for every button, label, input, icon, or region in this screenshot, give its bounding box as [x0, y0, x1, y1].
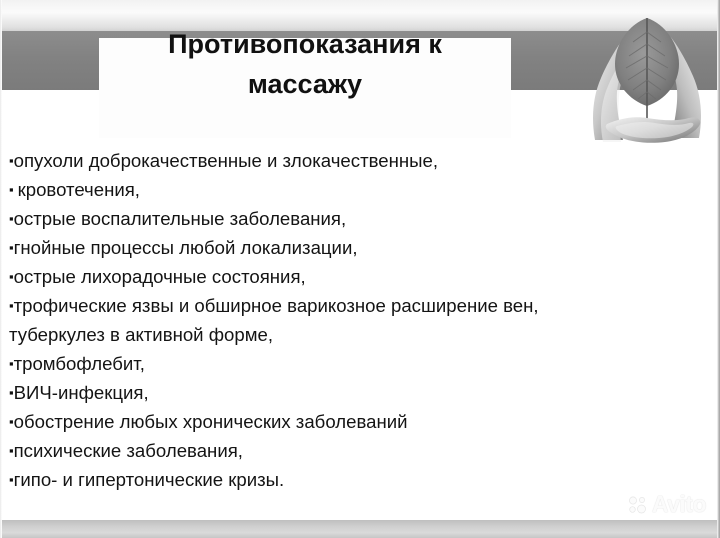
avito-watermark-text: Avito — [652, 493, 706, 516]
slide-canvas: Противопоказания к массажу — [0, 0, 720, 538]
list-item-label: ВИЧ-инфекция, — [14, 382, 149, 403]
list-item-label: трофические язвы и обширное варикозное р… — [14, 295, 539, 316]
list-item: ▪острые лихорадочные состояния, — [9, 262, 715, 291]
list-item: ▪психические заболевания, — [9, 436, 715, 465]
list-item: ▪кровотечения, — [9, 175, 715, 204]
page-title: Противопоказания к массажу — [99, 24, 511, 104]
list-item-label: опухоли доброкачественные и злокачествен… — [14, 150, 438, 171]
left-edge-border — [0, 0, 2, 538]
contraindications-list: ▪опухоли доброкачественные и злокачестве… — [9, 146, 715, 494]
avito-circles-logo — [628, 496, 648, 514]
list-item-label: острые воспалительные заболевания, — [14, 208, 347, 229]
list-item: ▪острые воспалительные заболевания, — [9, 204, 715, 233]
hands-holding-leaf-image — [577, 0, 717, 148]
list-item: ▪обострение любых хронических заболевани… — [9, 407, 715, 436]
list-item-label: тромбофлебит, — [14, 353, 145, 374]
list-item: ▪гипо- и гипертонические кризы. — [9, 465, 715, 494]
list-item: ▪гнойные процессы любой локализации, — [9, 233, 715, 262]
square-bullet-icon: ▪ — [9, 182, 14, 197]
list-item: ▪опухоли доброкачественные и злокачестве… — [9, 146, 715, 175]
list-item: ▪тромбофлебит, — [9, 349, 715, 378]
list-item-label: гнойные процессы любой локализации, — [14, 237, 358, 258]
list-item: ▪трофические язвы и обширное варикозное … — [9, 291, 715, 320]
avito-watermark: Avito — [628, 493, 706, 516]
list-item-label: кровотечения, — [18, 179, 140, 200]
list-item: ▪ВИЧ-инфекция, — [9, 378, 715, 407]
list-item-label: обострение любых хронических заболеваний — [14, 411, 408, 432]
list-item-label: гипо- и гипертонические кризы. — [14, 469, 285, 490]
bottom-gradient-bar — [0, 520, 720, 538]
list-item-label: туберкулез в активной форме, — [9, 324, 273, 345]
list-item-continuation: туберкулез в активной форме, — [9, 320, 715, 349]
list-item-label: острые лихорадочные состояния, — [14, 266, 306, 287]
list-item-label: психические заболевания, — [14, 440, 243, 461]
